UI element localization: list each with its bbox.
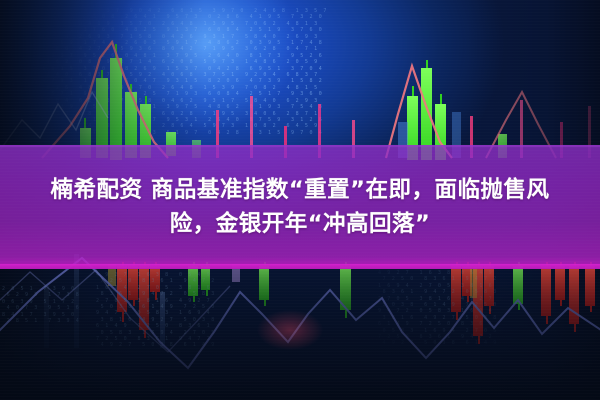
headline-text-block: 楠希配资 商品基准指数“重置”在即，面临抛售风 险，金银开年“冲高回落” <box>0 145 600 269</box>
banner-image: 3 7 1 0 9 4 2 8 5 1 3 7 9 0 4 2 6 8 1 5 … <box>0 0 600 400</box>
headline-line-1: 楠希配资 商品基准指数“重置”在即，面临抛售风 <box>51 175 550 205</box>
headline-line-2: 险，金银开年“冲高回落” <box>170 209 431 239</box>
